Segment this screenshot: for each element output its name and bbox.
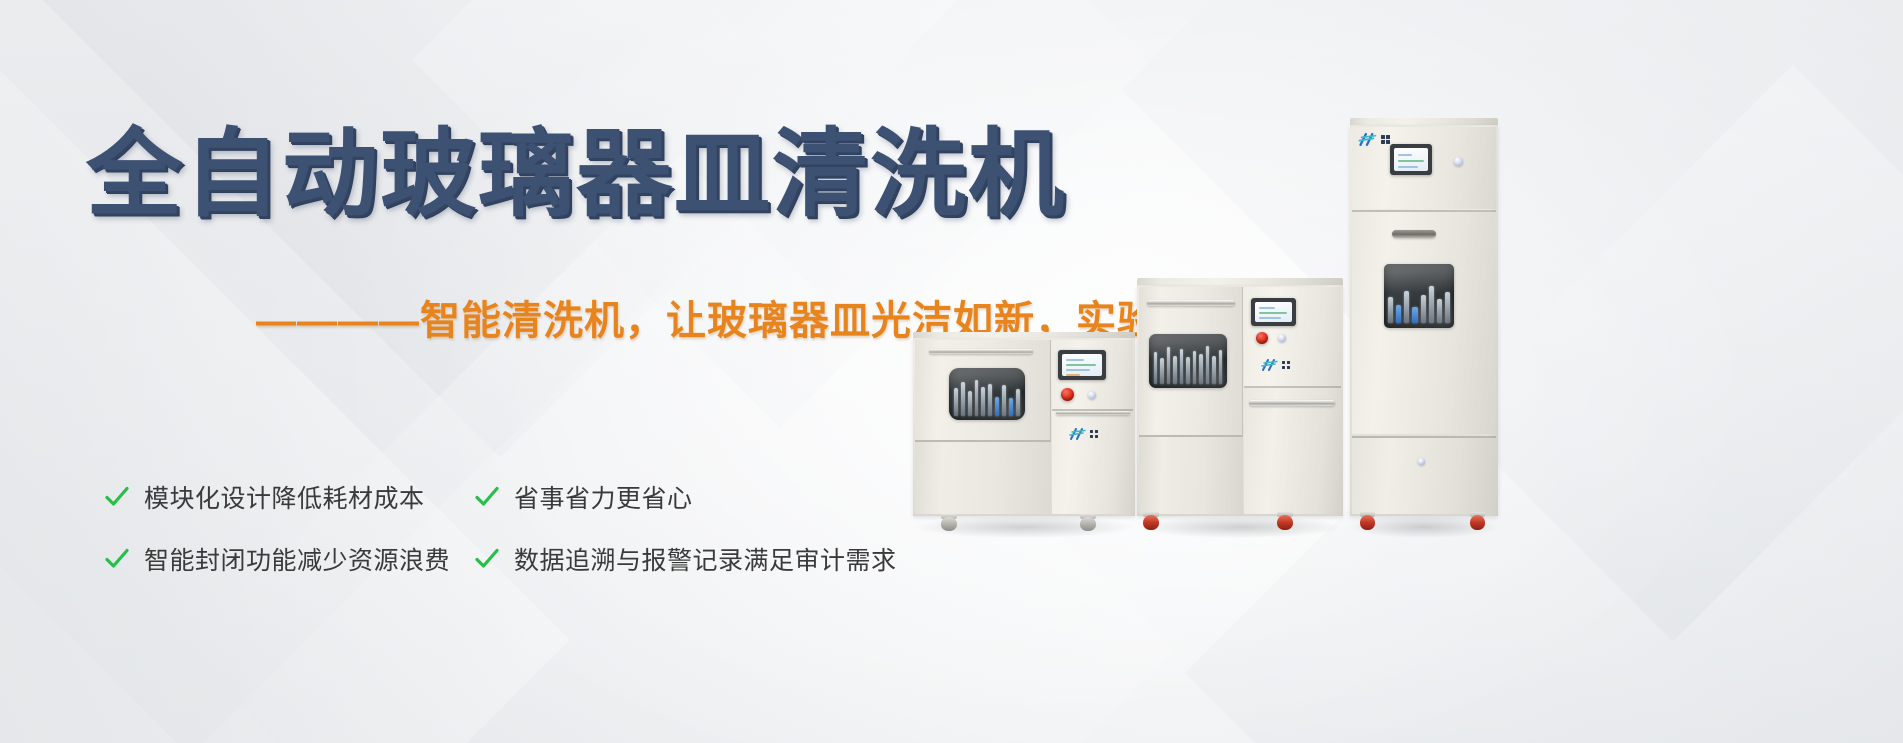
indicator-button[interactable] [1088, 391, 1096, 399]
brand-logo [1358, 132, 1390, 147]
touchscreen-display [1255, 302, 1292, 322]
indicator-button[interactable] [1278, 334, 1286, 342]
caster-wheel [1277, 515, 1293, 530]
product-undercounter-glassware-washer [913, 332, 1135, 528]
glassware-rack [1388, 269, 1450, 323]
touchscreen-display [1394, 148, 1428, 171]
product-freestanding-glassware-washer [1137, 278, 1343, 530]
emergency-stop-button[interactable] [1256, 332, 1268, 344]
chamber-viewing-window [949, 368, 1025, 420]
service-panel-handle[interactable] [1056, 411, 1130, 415]
service-door-handle[interactable] [1249, 400, 1335, 406]
chamber-viewing-window [1384, 264, 1454, 328]
h-logo-icon [1069, 427, 1087, 441]
chamber-door-handle[interactable] [1392, 230, 1436, 238]
control-touchscreen[interactable] [1058, 350, 1106, 380]
glassware-rack [1154, 338, 1223, 383]
chamber-viewing-window [1149, 334, 1227, 388]
caster-wheel [1143, 515, 1159, 530]
logo-dots-icon [1282, 361, 1290, 369]
touchscreen-display [1062, 354, 1102, 376]
indicator-button[interactable] [1454, 157, 1463, 166]
floor-shadow [1139, 516, 1341, 538]
caster-wheel [1080, 517, 1096, 531]
logo-dots-icon [1381, 135, 1390, 144]
emergency-stop-button[interactable] [1061, 388, 1074, 401]
h-logo-icon [1261, 358, 1279, 372]
product-tall-column-glassware-washer [1350, 118, 1498, 530]
lower-utility-door[interactable] [1352, 438, 1496, 514]
caster-wheel [941, 517, 957, 531]
product-banner: 全自动玻璃器皿清洗机 ————智能清洗机，让玻璃器皿光洁如新，实验无忧！ 模块化… [0, 0, 1903, 743]
logo-dots-icon [1090, 430, 1098, 438]
caster-wheel [1360, 515, 1375, 530]
product-images [0, 0, 1903, 743]
lower-drawer[interactable] [1139, 437, 1243, 514]
caster-wheel [1470, 515, 1485, 530]
control-touchscreen[interactable] [1251, 298, 1296, 326]
service-access-door[interactable] [1244, 388, 1341, 514]
chamber-door-handle[interactable] [929, 349, 1033, 354]
control-touchscreen[interactable] [1390, 144, 1432, 175]
chamber-door-handle[interactable] [1147, 300, 1235, 306]
glassware-rack [954, 372, 1021, 416]
h-logo-icon [1358, 132, 1378, 147]
brand-logo [1069, 427, 1098, 441]
door-latch-icon[interactable] [1418, 458, 1425, 465]
lower-drawer[interactable] [915, 442, 1051, 514]
brand-logo [1261, 358, 1290, 372]
